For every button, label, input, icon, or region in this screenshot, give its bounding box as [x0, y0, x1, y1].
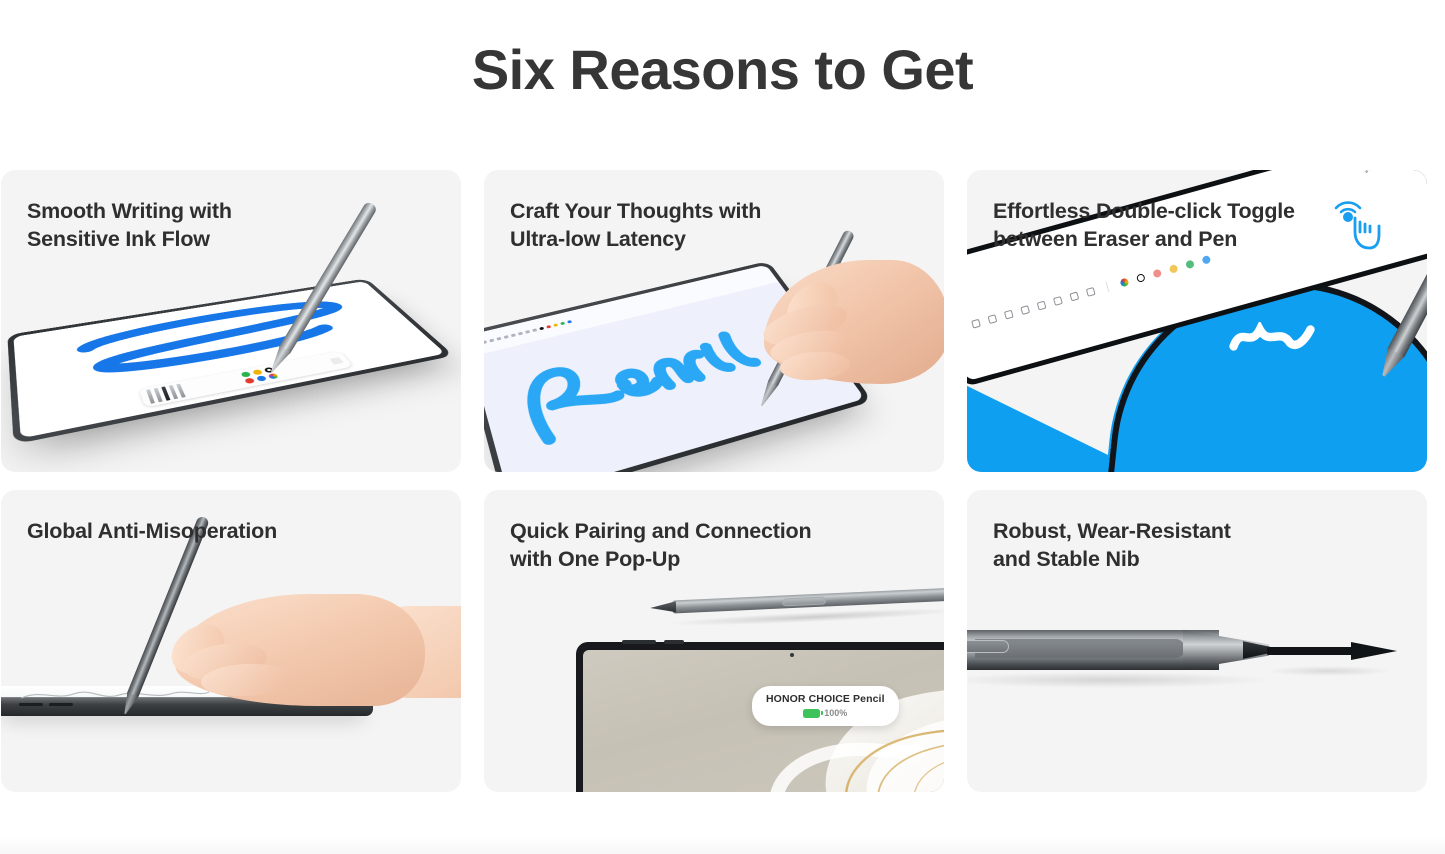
pairing-popup[interactable]: HONOR CHOICE Pencil 100%: [752, 686, 899, 726]
tool-icon[interactable]: [1004, 310, 1014, 320]
spare-nib: [1267, 642, 1395, 660]
tool-icon[interactable]: [1021, 305, 1031, 315]
tablet-screen: [13, 281, 445, 438]
page-bottom-strip: [0, 836, 1445, 854]
white-squiggle: [1229, 322, 1315, 352]
marketing-feature-page: Six Reasons to Get Smooth Writing with S…: [0, 0, 1445, 854]
card-illustration-quick-pairing: HONOR CHOICE Pencil 100%: [484, 490, 944, 792]
feature-card-anti-misoperation[interactable]: Global Anti-Misoperation: [1, 490, 461, 792]
feature-card-quick-pairing[interactable]: Quick Pairing and Connection with One Po…: [484, 490, 944, 792]
feature-card-ultra-low-latency[interactable]: Craft Your Thoughts with Ultra-low Laten…: [484, 170, 944, 472]
stylus-pen: [967, 630, 1263, 670]
feature-card-stable-nib[interactable]: Robust, Wear-Resistant and Stable Nib: [967, 490, 1427, 792]
page-title: Six Reasons to Get: [0, 38, 1445, 102]
pen-tools[interactable]: [146, 384, 186, 404]
hand-holding-stylus: [740, 246, 944, 414]
battery-status: 100%: [766, 708, 885, 718]
card-illustration-double-click: ↶↷✓: [967, 170, 1427, 472]
card-illustration-stable-nib: [967, 490, 1427, 792]
feature-card-grid: Smooth Writing with Sensitive Ink Flow: [0, 170, 1445, 792]
tool-icon[interactable]: [1070, 291, 1080, 301]
pen-button: [967, 640, 1009, 654]
tool-icon[interactable]: [971, 319, 981, 329]
tool-icon[interactable]: [988, 314, 998, 324]
feature-card-smooth-writing[interactable]: Smooth Writing with Sensitive Ink Flow: [1, 170, 461, 472]
battery-percent: 100%: [824, 708, 847, 718]
double-tap-hand-icon: [1329, 196, 1389, 256]
card-illustration-latency: [484, 170, 944, 472]
speaker-grille: [19, 703, 43, 706]
tool-icon[interactable]: [1086, 287, 1096, 297]
battery-icon: [803, 709, 820, 718]
volume-button: [622, 640, 656, 644]
tool-icon[interactable]: [1053, 296, 1063, 306]
power-button: [664, 640, 684, 644]
speaker-grille: [49, 703, 73, 706]
undo-redo-controls[interactable]: ↶↷✓: [1363, 170, 1403, 178]
tool-icon[interactable]: [1037, 300, 1047, 310]
feature-card-double-click-toggle[interactable]: Effortless Double-click Toggle between E…: [967, 170, 1427, 472]
hand-resting-on-screen: [149, 576, 461, 716]
popup-device-name: HONOR CHOICE Pencil: [766, 693, 885, 705]
more-options-icon[interactable]: [329, 357, 344, 365]
card-illustration-smooth-writing: [1, 170, 461, 472]
card-illustration-anti-misoperation: [1, 490, 461, 792]
tablet-device: [7, 278, 454, 444]
